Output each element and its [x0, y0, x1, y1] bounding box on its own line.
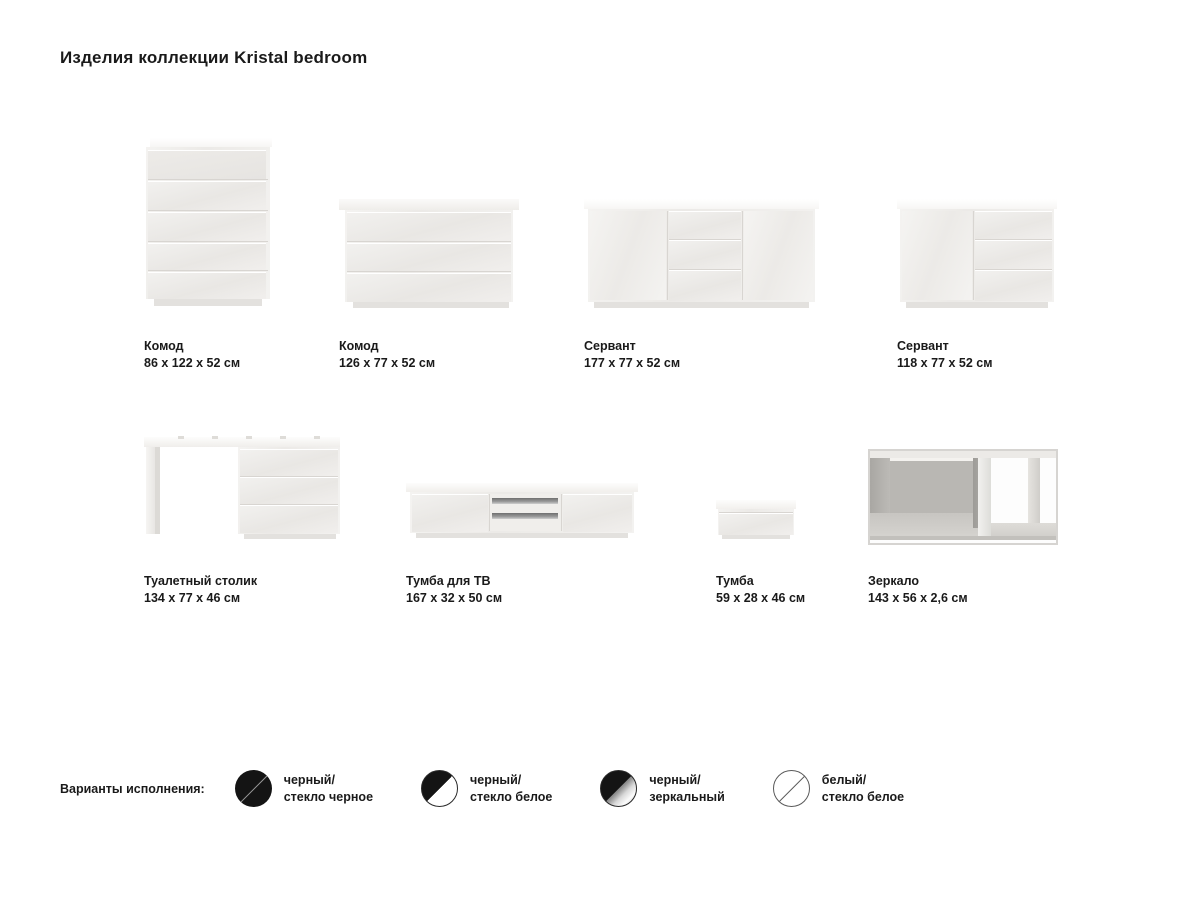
finish-options-legend: Варианты исполнения: черный/ стекло черн… — [60, 770, 952, 807]
legend-item-black-mirror[interactable]: черный/ зеркальный — [600, 770, 724, 807]
vanity-table-icon — [144, 433, 340, 541]
product-name: Зеркало — [868, 573, 1054, 590]
product-name: Сервант — [584, 338, 819, 355]
legend-title: Варианты исполнения: — [60, 782, 205, 796]
product-card-5[interactable]: Тумба для ТВ 167 x 32 x 50 см — [406, 483, 638, 607]
product-name: Комод — [339, 338, 519, 355]
product-dimensions: 126 x 77 x 52 см — [339, 355, 519, 372]
product-name: Комод — [144, 338, 272, 355]
legend-item-white-white[interactable]: белый/ стекло белое — [773, 770, 904, 807]
product-card-0[interactable]: Комод 86 x 122 x 52 см — [144, 138, 272, 372]
product-name: Сервант — [897, 338, 1057, 355]
product-dimensions: 134 x 77 x 46 см — [144, 590, 340, 607]
large-sideboard-icon — [584, 199, 819, 310]
swatch-black-black-icon — [235, 770, 272, 807]
wall-mirror-icon — [868, 449, 1054, 541]
legend-option-label: белый/ стекло белое — [822, 772, 904, 806]
legend-option-label: черный/ стекло черное — [284, 772, 373, 806]
tall-chest-of-drawers-icon — [144, 138, 272, 310]
legend-item-black-black[interactable]: черный/ стекло черное — [235, 770, 373, 807]
tv-stand-icon — [406, 483, 638, 541]
page-title: Изделия коллекции Kristal bedroom — [60, 48, 367, 68]
small-sideboard-icon — [897, 199, 1057, 310]
product-dimensions: 118 x 77 x 52 см — [897, 355, 1057, 372]
product-card-3[interactable]: Сервант 118 x 77 x 52 см — [897, 199, 1057, 372]
product-name: Туалетный столик — [144, 573, 340, 590]
product-card-1[interactable]: Комод 126 x 77 x 52 см — [339, 199, 519, 372]
legend-item-black-white[interactable]: черный/ стекло белое — [421, 770, 552, 807]
nightstand-icon — [716, 500, 796, 541]
product-dimensions: 59 x 28 x 46 см — [716, 590, 805, 607]
product-dimensions: 177 x 77 x 52 см — [584, 355, 819, 372]
swatch-black-white-icon — [421, 770, 458, 807]
product-dimensions: 86 x 122 x 52 см — [144, 355, 272, 372]
swatch-white-white-icon — [773, 770, 810, 807]
product-name: Тумба для ТВ — [406, 573, 638, 590]
wide-dresser-icon — [339, 199, 519, 310]
product-card-2[interactable]: Сервант 177 x 77 x 52 см — [584, 199, 819, 372]
legend-option-label: черный/ зеркальный — [649, 772, 724, 806]
swatch-black-mirror-icon — [600, 770, 637, 807]
product-card-7[interactable]: Зеркало 143 x 56 x 2,6 см — [868, 449, 1054, 607]
legend-option-label: черный/ стекло белое — [470, 772, 552, 806]
product-dimensions: 167 x 32 x 50 см — [406, 590, 638, 607]
product-card-6[interactable]: Тумба 59 x 28 x 46 см — [716, 500, 805, 607]
product-card-4[interactable]: Туалетный столик 134 x 77 x 46 см — [144, 433, 340, 607]
product-name: Тумба — [716, 573, 805, 590]
product-dimensions: 143 x 56 x 2,6 см — [868, 590, 1054, 607]
